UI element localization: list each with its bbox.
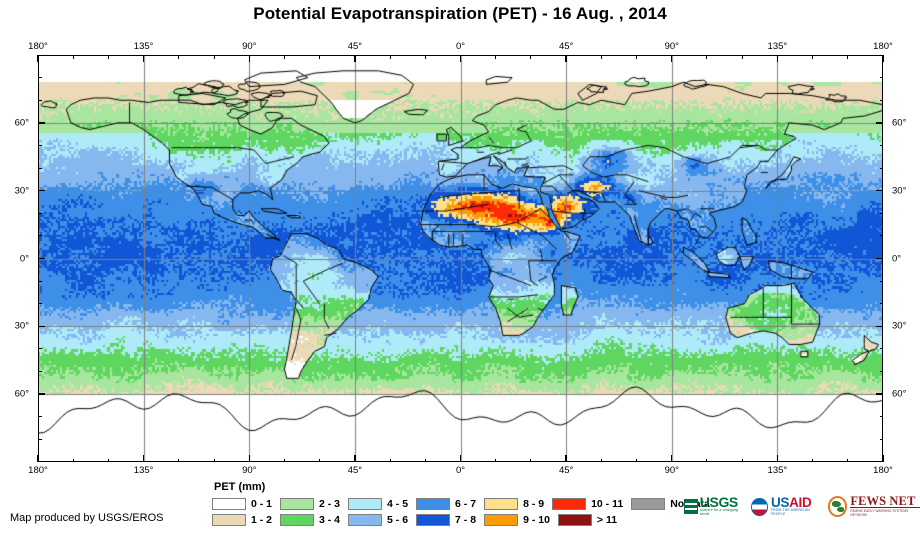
pet-world-map[interactable] (38, 55, 883, 462)
y-minor-tick (880, 303, 884, 304)
y-minor-tick (38, 213, 42, 214)
y-minor-tick (880, 213, 884, 214)
legend-upper-item[interactable]: 0 - 1 (212, 498, 272, 510)
x-minor-tick (530, 459, 531, 463)
usgs-tagline: science for a changing world (700, 508, 744, 516)
y-axis-label-left-0: 60° (15, 117, 29, 128)
usgs-mark-icon (684, 499, 698, 514)
usaid-logo[interactable]: USAID FROM THE AMERICAN PEOPLE (751, 497, 821, 516)
x-major-tick (565, 55, 566, 62)
y-axis-label-right-1: 30° (892, 185, 906, 196)
y-major-tick (38, 326, 45, 327)
x-minor-tick (214, 459, 215, 463)
y-minor-tick (38, 235, 42, 236)
y-axis-label-right-0: 60° (892, 117, 906, 128)
x-minor-tick (636, 55, 637, 59)
x-minor-tick (178, 459, 179, 463)
legend-swatch (416, 498, 450, 510)
legend-upper-item[interactable]: 6 - 7 (416, 498, 476, 510)
legend-row-lower: 1 - 23 - 45 - 67 - 89 - 10> 11 (212, 513, 718, 527)
y-major-tick (876, 326, 883, 327)
x-minor-tick (284, 55, 285, 59)
legend-swatch (280, 514, 314, 526)
y-minor-tick (880, 145, 884, 146)
x-minor-tick (108, 55, 109, 59)
x-minor-tick (73, 55, 74, 59)
x-minor-tick (812, 459, 813, 463)
x-axis-label-top-8: 180° (873, 41, 893, 52)
x-minor-tick (706, 459, 707, 463)
x-major-tick (777, 55, 778, 62)
legend-label: 7 - 8 (455, 514, 476, 526)
y-minor-tick (38, 281, 42, 282)
y-minor-tick (38, 303, 42, 304)
x-major-tick (249, 55, 250, 62)
x-major-tick (460, 55, 461, 62)
credit-text: Map produced by USGS/EROS (10, 512, 163, 524)
x-minor-tick (390, 55, 391, 59)
y-major-tick (876, 122, 883, 123)
x-axis-label-bottom-3: 45° (348, 465, 362, 476)
x-minor-tick (73, 459, 74, 463)
fewsnet-globe-icon (828, 496, 848, 517)
legend-label: 3 - 4 (319, 514, 340, 526)
legend: PET (mm) 0 - 12 - 34 - 56 - 78 - 910 - 1… (212, 481, 718, 529)
legend-swatch (484, 498, 518, 510)
y-minor-tick (38, 168, 42, 169)
y-minor-tick (880, 100, 884, 101)
y-axis-label-right-3: 30° (892, 321, 906, 332)
legend-title: PET (mm) (214, 481, 718, 493)
x-minor-tick (284, 459, 285, 463)
legend-label: 10 - 11 (591, 498, 623, 510)
x-axis-label-top-1: 135° (134, 41, 154, 52)
legend-label: > 11 (597, 514, 617, 526)
x-minor-tick (495, 459, 496, 463)
x-axis-label-top-7: 135° (768, 41, 788, 52)
y-minor-tick (38, 100, 42, 101)
x-minor-tick (742, 55, 743, 59)
x-minor-tick (706, 55, 707, 59)
x-minor-tick (319, 55, 320, 59)
x-minor-tick (425, 459, 426, 463)
x-axis-label-top-2: 90° (242, 41, 256, 52)
legend-swatch (212, 514, 246, 526)
y-minor-tick (880, 77, 884, 78)
y-minor-tick (880, 371, 884, 372)
y-minor-tick (38, 348, 42, 349)
legend-swatch (552, 498, 586, 510)
legend-label: 2 - 3 (319, 498, 340, 510)
y-major-tick (38, 122, 45, 123)
fewsnet-tagline: FAMINE EARLY WARNING SYSTEMS NETWORK (850, 507, 920, 517)
y-major-tick (876, 190, 883, 191)
x-axis-label-top-3: 45° (348, 41, 362, 52)
usgs-wordmark: USGS (700, 497, 744, 508)
fewsnet-wordmark: FEWS NET (850, 496, 920, 507)
x-axis-label-bottom-5: 45° (559, 465, 573, 476)
x-axis-label-top-6: 90° (665, 41, 679, 52)
x-axis-label-top-0: 180° (28, 41, 48, 52)
y-minor-tick (880, 281, 884, 282)
map-figure (38, 55, 883, 462)
y-axis-label-left-4: 60° (15, 389, 29, 400)
x-major-tick (37, 55, 38, 62)
legend-lower-item[interactable]: 9 - 10 (484, 514, 550, 526)
x-major-tick (882, 55, 883, 62)
y-minor-tick (880, 168, 884, 169)
usaid-seal-icon (751, 498, 768, 516)
y-major-tick (38, 393, 45, 394)
legend-swatch (558, 514, 592, 526)
x-minor-tick (390, 459, 391, 463)
usgs-logo[interactable]: USGS science for a changing world (684, 497, 744, 516)
x-axis-label-bottom-4: 0° (456, 465, 465, 476)
x-major-tick (565, 455, 566, 462)
x-minor-tick (601, 55, 602, 59)
x-minor-tick (742, 459, 743, 463)
y-axis-label-left-2: 0° (20, 253, 29, 264)
y-major-tick (38, 258, 45, 259)
usaid-tagline: FROM THE AMERICAN PEOPLE (771, 508, 821, 516)
x-axis-label-bottom-8: 180° (873, 465, 893, 476)
y-axis-label-left-3: 30° (15, 321, 29, 332)
legend-swatch (416, 514, 450, 526)
x-axis-label-bottom-7: 135° (768, 465, 788, 476)
x-axis-label-bottom-2: 90° (242, 465, 256, 476)
legend-label: 4 - 5 (387, 498, 408, 510)
legend-lower-item[interactable]: 1 - 2 (212, 514, 272, 526)
y-axis-label-right-2: 0° (892, 253, 901, 264)
y-minor-tick (38, 145, 42, 146)
legend-upper-item[interactable]: 8 - 9 (484, 498, 544, 510)
x-major-tick (882, 455, 883, 462)
x-major-tick (143, 455, 144, 462)
usaid-wordmark: USAID (771, 497, 821, 508)
x-axis-label-top-5: 45° (559, 41, 573, 52)
agency-logos: USGS science for a changing world USAID … (684, 496, 920, 517)
y-axis-label-left-1: 30° (15, 185, 29, 196)
y-minor-tick (880, 348, 884, 349)
y-major-tick (876, 258, 883, 259)
x-major-tick (143, 55, 144, 62)
x-major-tick (249, 455, 250, 462)
x-axis-label-bottom-0: 180° (28, 465, 48, 476)
legend-swatch (631, 498, 665, 510)
x-minor-tick (847, 459, 848, 463)
x-minor-tick (601, 459, 602, 463)
x-axis-label-bottom-6: 90° (665, 465, 679, 476)
x-minor-tick (108, 459, 109, 463)
x-major-tick (460, 455, 461, 462)
y-minor-tick (880, 439, 884, 440)
legend-label: 5 - 6 (387, 514, 408, 526)
y-minor-tick (38, 77, 42, 78)
x-minor-tick (178, 55, 179, 59)
legend-swatch (484, 514, 518, 526)
legend-lower-item[interactable]: > 11 (558, 514, 617, 526)
legend-swatch (348, 514, 382, 526)
x-minor-tick (319, 459, 320, 463)
legend-label: 9 - 10 (523, 514, 550, 526)
x-minor-tick (495, 55, 496, 59)
legend-swatch (348, 498, 382, 510)
page-title: Potential Evapotranspiration (PET) - 16 … (0, 4, 920, 24)
legend-row-upper: 0 - 12 - 34 - 56 - 78 - 910 - 11No Data (212, 497, 718, 511)
x-minor-tick (425, 55, 426, 59)
x-major-tick (37, 455, 38, 462)
x-minor-tick (530, 55, 531, 59)
x-minor-tick (812, 55, 813, 59)
legend-swatch (212, 498, 246, 510)
x-minor-tick (636, 459, 637, 463)
x-major-tick (671, 455, 672, 462)
legend-lower-item[interactable]: 3 - 4 (280, 514, 340, 526)
y-axis-label-right-4: 60° (892, 389, 906, 400)
legend-swatch (280, 498, 314, 510)
x-major-tick (354, 455, 355, 462)
x-minor-tick (214, 55, 215, 59)
x-minor-tick (847, 55, 848, 59)
legend-label: 0 - 1 (251, 498, 272, 510)
legend-upper-item[interactable]: 4 - 5 (348, 498, 408, 510)
legend-label: 1 - 2 (251, 514, 272, 526)
y-major-tick (38, 190, 45, 191)
x-axis-label-top-4: 0° (456, 41, 465, 52)
y-minor-tick (880, 416, 884, 417)
legend-upper-item[interactable]: 10 - 11 (552, 498, 623, 510)
x-major-tick (354, 55, 355, 62)
y-minor-tick (38, 439, 42, 440)
fewsnet-logo[interactable]: FEWS NET FAMINE EARLY WARNING SYSTEMS NE… (828, 496, 920, 517)
y-minor-tick (880, 235, 884, 236)
x-major-tick (671, 55, 672, 62)
legend-label: 8 - 9 (523, 498, 544, 510)
legend-lower-item[interactable]: 7 - 8 (416, 514, 476, 526)
legend-lower-item[interactable]: 5 - 6 (348, 514, 408, 526)
x-axis-label-bottom-1: 135° (134, 465, 154, 476)
x-major-tick (777, 455, 778, 462)
legend-label: 6 - 7 (455, 498, 476, 510)
y-minor-tick (38, 416, 42, 417)
y-minor-tick (38, 371, 42, 372)
y-major-tick (876, 393, 883, 394)
legend-upper-item[interactable]: 2 - 3 (280, 498, 340, 510)
